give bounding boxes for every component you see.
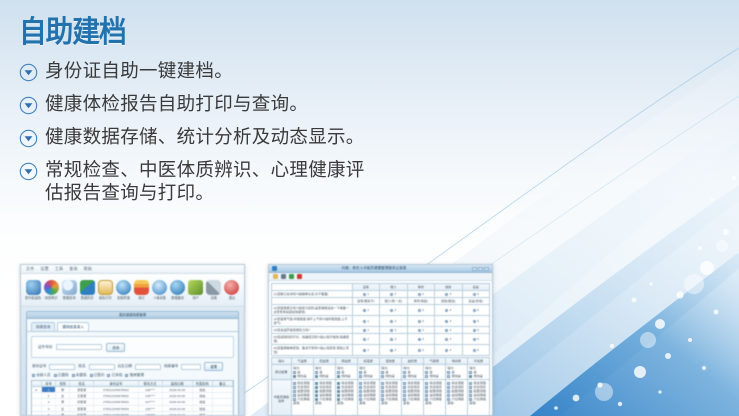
guidance-cell[interactable]: 情志调摄 饮食调养 起居调摄 运动保健 穴位保健 其他: [423,380,445,416]
grid-header-cell: 性别 [56,381,70,386]
scale-header-blank [272,284,353,291]
user-key-icon [188,280,203,295]
radio-option-1[interactable]: 1 [352,291,379,298]
checkbox-icon[interactable] [447,375,450,378]
scale-header-cell: 很少 [380,284,407,291]
cell-date: 2018-03-07 [163,412,193,416]
radio-option-3[interactable]: 3 [407,345,434,356]
result-opt-tend[interactable]: 倾向是 [425,374,443,378]
cell-phone: 136**** [139,412,163,416]
cell-index: 1 [42,387,56,392]
radio-icon[interactable] [473,329,476,332]
result-opt-tend[interactable]: 倾向是 [447,374,465,378]
grid-header-cell: 联系方式 [139,381,163,386]
checkbox-icon[interactable] [125,374,128,377]
question-row: (5)您感到闷闷不乐、情绪低沉吗?(指心情不愉快,情绪低落) 1 2 3 4 5 [272,334,490,345]
search-panel[interactable]: 证件号码 查询 [31,336,234,358]
cell-idcard: 370012345678901 [94,387,138,392]
scale-header-cell: 经常 [435,284,462,291]
radio-icon[interactable] [390,320,393,323]
cell-date: 2018-03-06 [163,399,193,404]
guidance-note-input[interactable] [381,405,399,415]
radio-option-2[interactable]: 2 [380,345,407,356]
radio-option-4[interactable]: 4 [435,334,462,345]
guidance-note-input[interactable] [425,405,443,415]
constitution-col: 特禀质 [445,358,467,365]
slide-canvas: 自助建档 身份证自助一键建档。 健康体检报告自助打印与查询。 [0,0,739,416]
tab-strip[interactable]: 档案查询 建档信息录入 [27,319,238,332]
inner-window[interactable]: 居民健康档案管理 档案查询 建档信息录入 证件号码 查询 身份证号 姓名 出生日… [26,311,239,416]
guidance-cell[interactable]: 情志调摄 饮食调养 起居调摄 运动保健 穴位保健 其他: [291,380,313,416]
radio-option-4[interactable]: 4 [435,327,462,334]
radio-icon[interactable] [445,293,448,296]
mdi-workspace: 居民健康档案管理 档案查询 建档信息录入 证件号码 查询 身份证号 姓名 出生日… [21,307,244,416]
cell-name: 刘某某 [70,399,94,404]
checkbox-icon[interactable] [425,375,428,378]
toolbar-button-print[interactable]: 报告打印 [96,280,114,300]
radio-option-4[interactable]: 4 [435,305,462,316]
radio-icon[interactable] [418,349,421,352]
guidance-cell[interactable]: 情志调摄 饮食调养 起居调摄 运动保健 穴位保健 其他: [379,380,401,416]
cell-gender: 女 [56,406,70,411]
list-item: 健康数据存储、统计分析及动态显示。 [19,126,489,149]
result-cell[interactable]: 得分: 是 倾向是 [357,365,379,380]
checkbox-icon[interactable] [381,375,384,378]
guidance-cell[interactable]: 情志调摄 饮食调养 起居调摄 运动保健 穴位保健 其他: [335,380,357,416]
cell-date: 2018-03-06 [163,406,193,411]
questionnaire-body[interactable]: 没有 很少 有时 经常 总是 (1)您精力充沛吗?(指精神头足,乐于做事) 1 … [269,281,492,415]
radio-option-5[interactable]: 5 [462,345,489,356]
toolbar-button-exit[interactable]: 退出 [223,280,241,300]
row-marker [32,393,42,398]
radio-icon[interactable] [445,349,448,352]
radio-option-4[interactable]: 4 [435,291,462,298]
question-row: (4)您说话声音低弱无力吗? 1 2 3 4 5 [272,327,490,334]
guidance-cell[interactable]: 情志调摄 饮食调养 起居调摄 运动保健 穴位保健 其他: [313,380,335,416]
power-icon [224,280,239,295]
cell-index: 2 [42,393,56,398]
toolbar-button-search[interactable]: 数据查询 [60,280,78,300]
guidance-note-input[interactable] [403,405,421,415]
cell-phone: 138**** [139,387,163,392]
records-grid[interactable]: 序号 性别 姓名 身份证号 联系方式 建档日期 所属机构 备注 ▸ 1 男 李某… [31,380,234,416]
result-opt-tend[interactable]: 倾向是 [315,374,333,378]
filter-label-birth: 出生日期 [118,364,132,369]
checkbox-icon[interactable] [469,375,472,378]
constitution-col: 平和质 [467,358,489,365]
checkbox-signed[interactable]: 已签约 [90,373,105,378]
sublabel-cell: 没有(根本不) [352,298,379,305]
delete-icon[interactable] [297,274,302,279]
checkbox-icon[interactable] [403,375,406,378]
questionnaire-toolbar[interactable] [269,273,492,281]
checkbox-icon[interactable] [359,375,362,378]
constitution-col: 血瘀质 [401,358,423,365]
app-menubar[interactable]: 文件 设置 工具 查询 帮助 [21,265,244,274]
filter-label-name: 姓名 [78,364,85,369]
radio-icon[interactable] [418,329,421,332]
guidance-note-input[interactable] [293,405,311,415]
toolbar-button-camera[interactable]: 人像采集 [151,280,169,300]
cell-phone: 139**** [139,393,163,398]
radio-icon[interactable] [445,309,448,312]
toolbar-button-sync[interactable]: 数据同步 [78,280,96,300]
chevron-down-circle-icon [19,129,38,148]
camera-icon [152,280,167,295]
tab-archive-query[interactable]: 档案查询 [31,322,55,331]
cell-idcard: 370012345678903 [94,399,138,404]
list-item: 健康体检报告自助打印与查询。 [19,93,489,116]
app-toolbar[interactable]: 新中医建档 体质辨识 数据查询 数据同步 报告打印 自助终端 [21,274,244,307]
result-cell[interactable]: 得分: 是 倾向是 [291,365,313,380]
cell-phone: 137**** [139,399,163,404]
list-item-label: 健康数据存储、统计分析及动态显示。 [45,126,365,149]
checkbox-icon[interactable] [293,375,296,378]
terminal-disc-icon [116,280,131,295]
radio-icon[interactable] [418,293,421,296]
radio-option-5[interactable]: 5 [462,327,489,334]
radio-icon[interactable] [418,309,421,312]
guidance-row: 中医药保健指导 情志调摄 饮食调养 起居调摄 运动保健 穴位保健 其他: 情志调… [272,380,490,416]
questionnaire-titlebar[interactable]: 问卷：老年人中医药健康管理服务记录表 [269,265,492,273]
radio-icon[interactable] [473,338,476,341]
toolbar-button-settings[interactable]: 设置 [205,280,223,300]
sublabel-cell: 经常(相当) [435,298,462,305]
checkbox-icon[interactable] [107,374,110,377]
cell-name: 赵某某 [70,412,94,416]
search-button[interactable]: 查询 [106,343,125,352]
result-opt-tend[interactable]: 倾向是 [403,374,421,378]
radio-option-2[interactable]: 2 [380,316,407,327]
print-icon[interactable] [281,274,286,279]
bar-chart-icon [134,280,149,295]
radio-option-2[interactable]: 2 [380,291,407,298]
radio-option-1[interactable]: 1 [352,334,379,345]
guidance-label: 中医药保健指导 [272,380,292,416]
checkbox-icon[interactable] [32,374,35,377]
cell-org: 城关 [193,399,213,404]
radio-icon[interactable] [473,320,476,323]
constitution-col: 痰湿质 [357,358,379,365]
radio-option-2[interactable]: 2 [380,327,407,334]
constitution-header-row: 得分 气虚质 阳虚质 阴虚质 痰湿质 湿热质 血瘀质 气郁质 特禀质 平和质 [272,358,490,365]
row-marker [32,406,42,411]
cell-index: 3 [42,399,56,404]
row-marker [32,399,42,404]
menu-item-help[interactable]: 帮助 [84,266,92,272]
grid-header-cell: 备注 [213,381,233,386]
cell-idcard: 370012345678902 [94,393,138,398]
guidance-note-input[interactable] [337,405,355,415]
filter-label-archiveno: 档案编号 [164,364,178,369]
guidance-note-input[interactable] [447,405,465,415]
sync-globe-icon [80,280,95,295]
list-item-label: 身份证自助一键建档。 [45,60,233,83]
toolbar-button-statistics[interactable]: 统计 [132,280,150,300]
cell-idcard: 370012345678905 [94,412,138,416]
magnifier-icon [62,280,77,295]
result-opt-tend[interactable]: 倾向是 [469,374,487,378]
menu-item-file[interactable]: 文件 [26,266,34,272]
cell-index: 5 [42,412,56,416]
scale-header-cell: 总是 [462,284,489,291]
search-input[interactable] [56,344,102,350]
scale-header-cell: 没有 [352,284,379,291]
sublabel-cell: 总是(非常) [462,298,489,305]
cell-note [213,387,233,392]
radio-icon[interactable] [445,338,448,341]
result-cell[interactable]: 得分: 是 倾向是 [445,365,467,380]
radio-option-3[interactable]: 3 [407,305,434,316]
radio-icon[interactable] [363,349,366,352]
question-text: (6)您容易精神紧张、焦虑不安吗?(指心情紧张,易担心害怕) [272,345,353,356]
radio-option-4[interactable]: 4 [435,316,462,327]
radio-option-3[interactable]: 3 [407,334,434,345]
radio-icon[interactable] [363,329,366,332]
menu-item-query[interactable]: 查询 [69,266,77,272]
radio-icon[interactable] [473,293,476,296]
filter-label-idcard: 身份证号 [32,364,46,369]
radio-option-5[interactable]: 5 [462,334,489,345]
list-item: 常规检查、中医体质辨识、心理健康评 估报告查询与打印。 [19,159,489,205]
backup-icon [170,280,185,295]
constitution-col: 气虚质 [291,358,313,365]
question-row: (2)您容易疲乏吗?(指体力如何,是否稍微活动一下或做一点家务劳动就感到疲劳) … [272,305,490,316]
checkbox-examined[interactable]: 已体检 [107,373,122,378]
cell-note [213,406,233,411]
result-cell[interactable]: 得分: 是 倾向是 [467,365,489,380]
result-row: 辨识结果 得分: 是 倾向是 得分: 是 倾向是 得分: 是 倾向是 [272,365,490,380]
screenshot-questionnaire[interactable]: 问卷：老年人中医药健康管理服务记录表 没有 很少 有时 经常 总是 [268,264,493,416]
page-title: 自助建档 [19,18,126,48]
cell-name: 王某某 [70,393,94,398]
result-opt-tend[interactable]: 倾向是 [337,374,355,378]
cell-gender: 男 [56,399,70,404]
cell-org: 城关 [193,406,213,411]
menu-item-tools[interactable]: 工具 [55,266,63,272]
radio-icon[interactable] [390,293,393,296]
chevron-down-circle-icon [19,63,38,82]
result-opt-tend[interactable]: 倾向是 [381,374,399,378]
scale-header-cell: 有时 [407,284,434,291]
radio-icon[interactable] [418,320,421,323]
question-row: (3)您容易气短,呼吸短促,接不上气吗?(指呼吸短促,上不来气) 1 2 3 4… [272,316,490,327]
radio-option-5[interactable]: 5 [462,316,489,327]
list-item-label: 健康体检报告自助打印与查询。 [45,93,308,116]
result-cell[interactable]: 得分: 是 倾向是 [423,365,445,380]
question-text: (1)您精力充沛吗?(指精神头足,乐于做事) [272,291,353,298]
filter-input-name[interactable] [89,364,115,370]
guidance-cell[interactable]: 情志调摄 饮食调养 起居调摄 运动保健 穴位保健 其他: [401,380,423,416]
radio-icon[interactable] [390,329,393,332]
radio-option-3[interactable]: 3 [407,291,434,298]
radio-icon[interactable] [473,349,476,352]
toolbar-button-constitution[interactable]: 体质辨识 [42,280,60,300]
grid-header-cell: 序号 [42,381,56,386]
screenshot-archive-system[interactable]: 文件 设置 工具 查询 帮助 新中医建档 体质辨识 数据查询 数据同步 [20,264,245,416]
checkbox-icon[interactable] [90,374,93,377]
radio-option-2[interactable]: 2 [380,305,407,316]
radio-option-1[interactable]: 1 [352,316,379,327]
radio-icon[interactable] [390,349,393,352]
radio-icon[interactable] [418,338,421,341]
sublabel-cell: 有时(有些) [407,298,434,305]
cell-gender: 女 [56,393,70,398]
result-cell[interactable]: 得分: 是 倾向是 [313,365,335,380]
cell-gender: 男 [56,387,70,392]
inner-window-title: 居民健康档案管理 [27,312,238,319]
radio-icon[interactable] [363,320,366,323]
radio-icon[interactable] [390,338,393,341]
list-item-label: 常规检查、中医体质辨识、心理健康评 估报告查询与打印。 [45,159,365,205]
result-cell[interactable]: 得分: 是 倾向是 [401,365,423,380]
cell-note [213,393,233,398]
cell-date: 2018-03-05 [163,387,193,392]
toolbar-button-backup[interactable]: 数据备份 [169,280,187,300]
search-label: 证件号码 [38,345,52,350]
cell-phone: 135**** [139,406,163,411]
radio-icon[interactable] [473,309,476,312]
radio-icon[interactable] [445,329,448,332]
checkbox-all[interactable]: 全部人员 [32,373,51,378]
checkbox-icon[interactable] [337,375,340,378]
result-opt-tend[interactable]: 倾向是 [359,374,377,378]
list-item: 身份证自助一键建档。 [19,60,489,83]
document-print-icon [98,280,113,295]
question-row: (6)您容易精神紧张、焦虑不安吗?(指心情紧张,易担心害怕) 1 2 3 4 5 [272,345,490,356]
menu-item-setup[interactable]: 设置 [40,266,48,272]
questionnaire-table: 没有 很少 有时 经常 总是 (1)您精力充沛吗?(指精神头足,乐于做事) 1 … [271,283,490,356]
checkbox-chronic[interactable]: 慢病管理 [125,373,144,378]
cell-note [213,399,233,404]
reset-button[interactable]: 重置 [204,362,223,371]
sublabel-row: 没有(根本不) 很少(有一点) 有时(有些) 经常(相当) 总是(非常) [272,298,490,305]
question-text: (2)您容易疲乏吗?(指体力如何,是否稍微活动一下或做一点家务劳动就感到疲劳) [272,305,353,316]
cell-org: 城关 [193,387,213,392]
constitution-col: 阳虚质 [313,358,335,365]
radio-option-2[interactable]: 2 [380,334,407,345]
cell-gender: 男 [56,412,70,416]
guidance-note-input[interactable] [469,405,487,415]
result-label: 辨识结果 [272,365,292,380]
checkbox-unarchived[interactable]: 未建档 [72,373,87,378]
filter-input-archiveno[interactable] [181,364,201,370]
guidance-note-input[interactable] [359,405,377,415]
tools-icon [206,280,221,295]
radio-option-1[interactable]: 1 [352,305,379,316]
bullet-list: 身份证自助一键建档。 健康体检报告自助打印与查询。 健康数据存储、统计分析及动态… [19,60,489,215]
grid-header-cell: 身份证号 [94,381,138,386]
question-text: (3)您容易气短,呼吸短促,接不上气吗?(指呼吸短促,上不来气) [272,316,353,327]
radio-icon[interactable] [445,320,448,323]
grid-header-cell [32,381,42,386]
radio-icon[interactable] [390,309,393,312]
tab-archive-entry[interactable]: 建档信息录入 [57,322,89,331]
sublabel-blank [272,298,353,305]
radio-option-5[interactable]: 5 [462,291,489,298]
radio-icon[interactable] [363,293,366,296]
row-marker [32,412,42,416]
guidance-cell[interactable]: 情志调摄 饮食调养 起居调摄 运动保健 穴位保健 其他: [467,380,489,416]
cell-org: 城关 [193,412,213,416]
guidance-cell[interactable]: 情志调摄 饮食调养 起居调摄 运动保健 穴位保健 其他: [357,380,379,416]
radio-option-1[interactable]: 1 [352,345,379,356]
scale-header-row: 没有 很少 有时 经常 总是 [272,284,490,291]
radio-option-3[interactable]: 3 [407,327,434,334]
question-text: (5)您感到闷闷不乐、情绪低沉吗?(指心情不愉快,情绪低落) [272,334,353,345]
result-cell[interactable]: 得分: 是 倾向是 [379,365,401,380]
sublabel-cell: 很少(有一点) [380,298,407,305]
guidance-cell[interactable]: 情志调摄 饮食调养 起居调摄 运动保健 穴位保健 其他: [445,380,467,416]
color-wheel-icon [44,280,59,295]
refresh-icon[interactable] [289,274,294,279]
constitution-col: 湿热质 [379,358,401,365]
result-cell[interactable]: 得分: 是 倾向是 [335,365,357,380]
close-button[interactable] [484,267,489,271]
id-card-icon [26,280,41,295]
radio-option-1[interactable]: 1 [352,327,379,334]
toolbar-button-terminal[interactable]: 自助终端 [114,280,132,300]
result-opt-tend[interactable]: 倾向是 [293,374,311,378]
checkbox-icon[interactable] [315,375,318,378]
cell-index: 4 [42,406,56,411]
chevron-down-circle-icon [19,162,38,181]
radio-option-3[interactable]: 3 [407,316,434,327]
cell-name: 张某某 [70,406,94,411]
checkbox-icon[interactable] [72,374,75,377]
grid-header-cell: 所属机构 [193,381,213,386]
filter-row-1[interactable]: 身份证号 姓名 出生日期 档案编号 重置 [27,362,238,371]
filter-input-idcard[interactable] [49,364,75,370]
cell-date: 2018-03-05 [163,393,193,398]
cell-note [213,412,233,416]
question-row: (1)您精力充沛吗?(指精神头足,乐于做事) 1 2 3 4 5 [272,291,490,298]
questionnaire-title: 问卷：老年人中医药健康管理服务记录表 [277,266,471,271]
toolbar-button-user[interactable]: 用户 [187,280,205,300]
chevron-down-circle-icon [19,96,38,115]
constitution-col: 气郁质 [423,358,445,365]
radio-option-5[interactable]: 5 [462,305,489,316]
filter-input-birth[interactable] [135,364,161,370]
cell-org: 城关 [193,393,213,398]
question-text: (4)您说话声音低弱无力吗? [272,327,353,334]
constitution-col: 阴虚质 [335,358,357,365]
save-icon[interactable] [273,274,278,279]
constitution-table: 得分 气虚质 阳虚质 阴虚质 痰湿质 湿热质 血瘀质 气郁质 特禀质 平和质 辨… [271,357,490,415]
cell-idcard: 370012345678904 [94,406,138,411]
radio-option-4[interactable]: 4 [435,345,462,356]
table-row[interactable]: 5 男 赵某某 370012345678905 136**** 2018-03-… [32,412,233,416]
checkbox-icon[interactable] [54,374,57,377]
radio-icon[interactable] [363,338,366,341]
constitution-type-label: 得分 [272,358,292,365]
grid-header-cell: 建档日期 [163,381,193,386]
toolbar-button-id-card[interactable]: 新中医建档 [24,280,42,300]
radio-icon[interactable] [363,309,366,312]
cell-name: 李某某 [70,387,94,392]
grid-header-cell: 姓名 [70,381,94,386]
row-marker: ▸ [32,387,42,392]
minimize-button[interactable] [472,267,477,271]
checkbox-archived[interactable]: 已建档 [54,373,69,378]
maximize-button[interactable] [478,267,483,271]
guidance-note-input[interactable] [315,405,333,415]
filter-row-2[interactable]: 全部人员 已建档 未建档 已签约 已体检 慢病管理 [27,373,238,378]
